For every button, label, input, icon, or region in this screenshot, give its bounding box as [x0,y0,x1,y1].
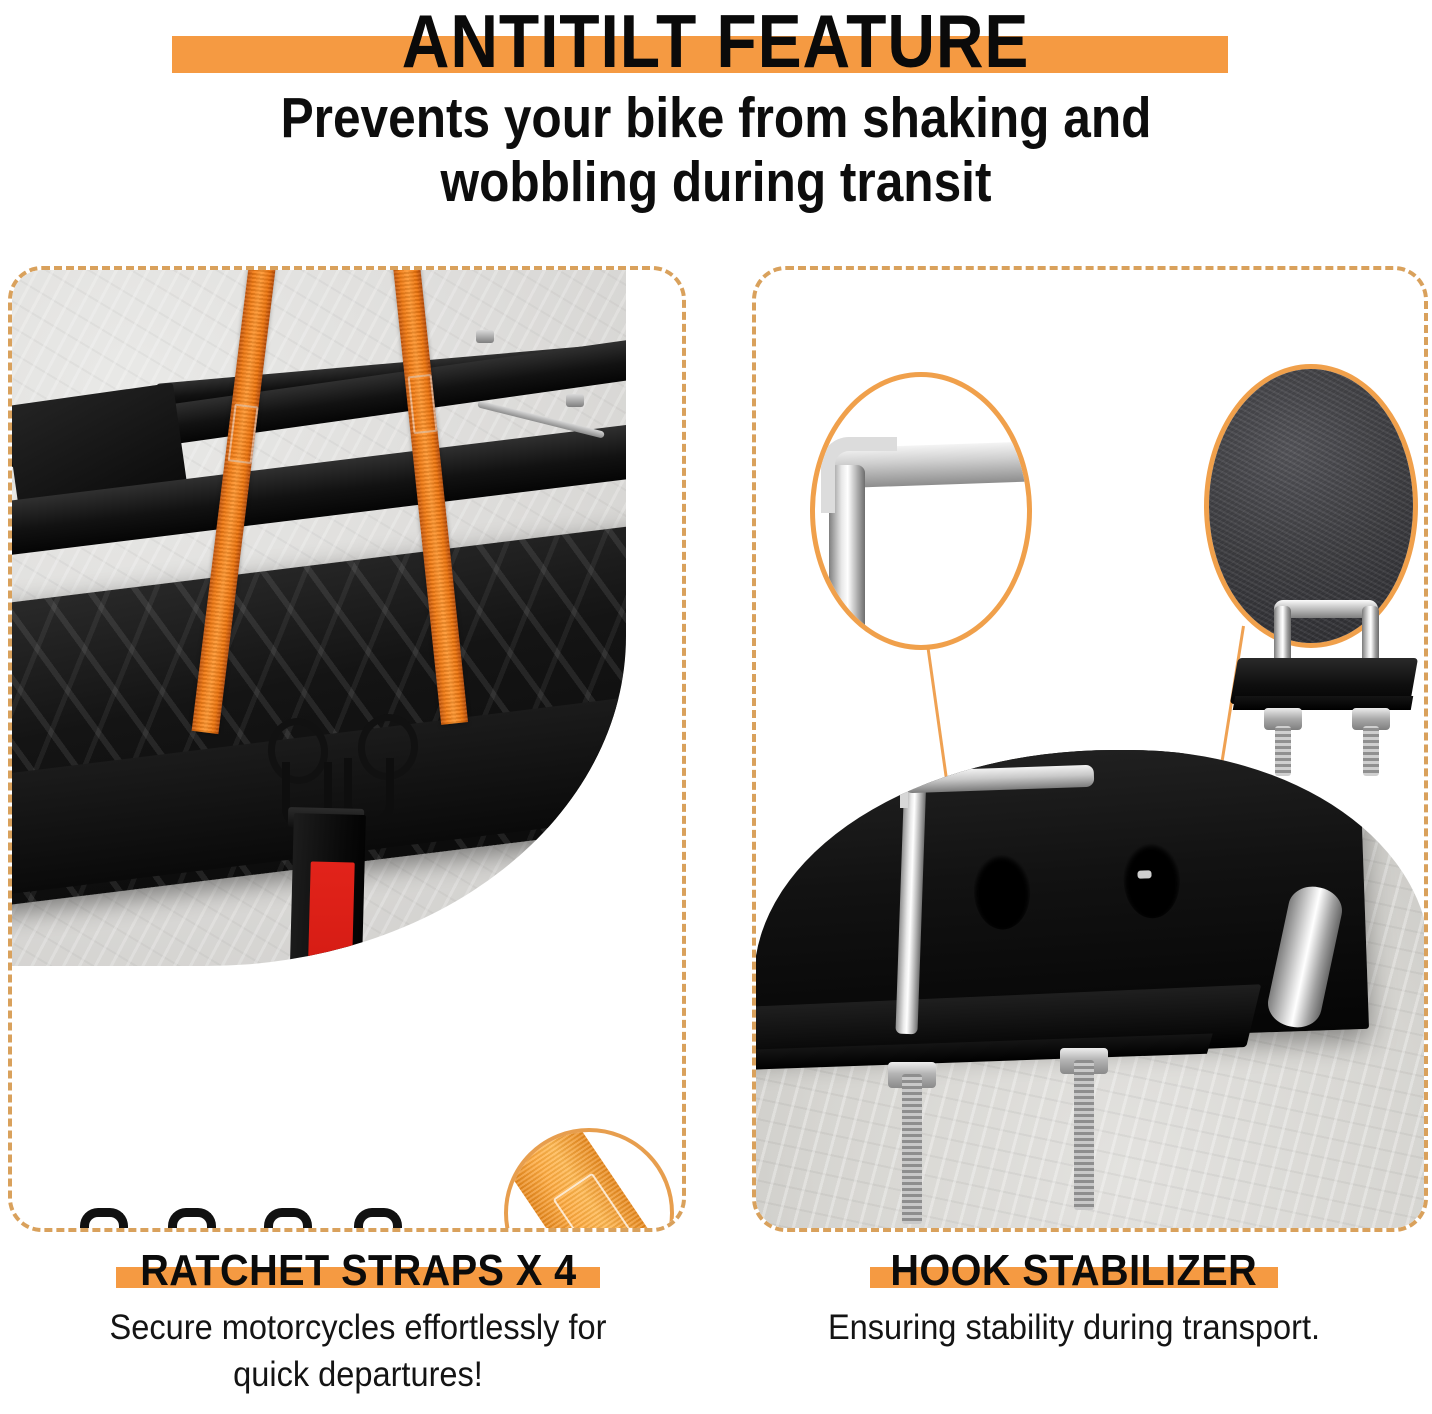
hitch-hole-1 [973,853,1032,931]
s-hook-icon [168,1208,216,1228]
threaded-stud-1 [902,1074,922,1224]
caption-right-title: HOOK STABILIZER [891,1246,1258,1296]
s-hook-icon [80,1208,128,1228]
subtitle-line-1: Prevents your bike from shaking and [93,86,1339,150]
threaded-stud-2 [1074,1060,1094,1210]
strap-item-4 [342,1208,404,1228]
hook-stabilizer-clamp-product [1230,596,1418,776]
caption-left-title: RATCHET STRAPS X 4 [140,1246,576,1296]
strap-item-2 [156,1208,218,1228]
carrier-strap-photo [12,270,626,966]
strap-item-1 [68,1208,130,1228]
carrier-bolt-1 [476,330,494,343]
caption-left-subtitle-line-2: quick departures! [25,1351,691,1398]
caption-left-subtitle: Secure motorcycles effortlessly for quic… [25,1304,691,1398]
webbing-closeup-callout [504,1128,674,1228]
caption-right-subtitle-line-1: Ensuring stability during transport. [741,1304,1407,1351]
s-hook-icon [354,1208,402,1228]
title-text: ANTITILT FEATURE [402,4,1030,79]
s-hook-icon [264,1208,312,1228]
panel-hook-stabilizer [752,266,1428,1232]
clamp-stud-right [1363,726,1379,776]
caption-right-title-wrap: HOOK STABILIZER [866,1246,1282,1296]
caption-left-subtitle-line-1: Secure motorcycles effortlessly for [25,1304,691,1351]
hitch-hole-2 [1122,841,1181,919]
panel-ratchet-straps [8,266,686,1232]
clamp-stud-left [1275,726,1291,776]
u-bolt-corner [900,766,942,808]
caption-right-subtitle: Ensuring stability during transport. [741,1304,1407,1351]
hook-stabilizer-photo [756,750,1424,1228]
ratchet-straps-product-row [68,1208,428,1228]
page-subtitle: Prevents your bike from shaking and wobb… [93,86,1339,214]
subtitle-line-2: wobbling during transit [93,150,1339,214]
header: ANTITILT FEATURE Prevents your bike from… [0,0,1432,248]
chrome-bend-icon [821,437,897,513]
panel-right-inner [756,270,1424,1228]
caption-left-title-wrap: RATCHET STRAPS X 4 [112,1246,605,1296]
carrier-bolt-2 [566,394,584,407]
strap-item-3 [252,1208,314,1228]
panel-left-inner [12,270,682,1228]
caption-hook-stabilizer: HOOK STABILIZER Ensuring stability durin… [716,1246,1432,1351]
chrome-ubolt-corner-callout [810,372,1032,650]
page-title: ANTITILT FEATURE [0,0,1432,82]
red-reflector [305,861,354,966]
caption-ratchet-straps: RATCHET STRAPS X 4 Secure motorcycles ef… [0,1246,716,1398]
